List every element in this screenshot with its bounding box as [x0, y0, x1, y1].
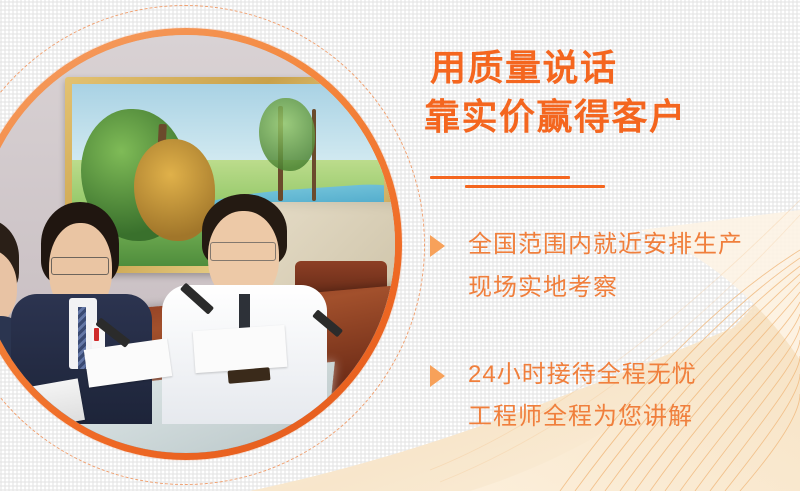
divider-bar-bottom: [465, 185, 605, 188]
feature-2-line-1: 24小时接待全程无忧: [468, 358, 800, 393]
headline-block: 用质量说话 靠实价赢得客户: [424, 44, 800, 141]
meeting-photo: [0, 35, 395, 453]
headline-divider: [430, 176, 630, 194]
chevron-right-icon: [430, 235, 445, 257]
headline-line-1: 用质量说话: [430, 44, 800, 93]
chevron-right-icon: [430, 365, 445, 387]
document-paper: [193, 324, 288, 372]
headline-line-2: 靠实价赢得客户: [424, 93, 800, 142]
feature-list: 全国范围内就近安排生产 现场实地考察 24小时接待全程无忧 工程师全程为您讲解: [422, 228, 800, 487]
divider-bar-top: [430, 176, 570, 179]
feature-item-1: 全国范围内就近安排生产 现场实地考察: [422, 228, 800, 306]
glasses-icon: [51, 257, 109, 276]
feature-item-2: 24小时接待全程无忧 工程师全程为您讲解: [422, 358, 800, 436]
feature-1-line-1: 全国范围内就近安排生产: [468, 228, 800, 263]
feature-2-line-2: 工程师全程为您讲解: [468, 400, 800, 435]
feature-1-line-2: 现场实地考察: [468, 271, 800, 306]
promo-banner: 用质量说话 靠实价赢得客户 全国范围内就近安排生产 现场实地考察 24小时接待全…: [0, 0, 800, 491]
glasses-icon: [210, 242, 275, 262]
photo-ring-border: [0, 28, 402, 460]
content-column: 用质量说话 靠实价赢得客户 全国范围内就近安排生产 现场实地考察 24小时接待全…: [422, 0, 800, 491]
